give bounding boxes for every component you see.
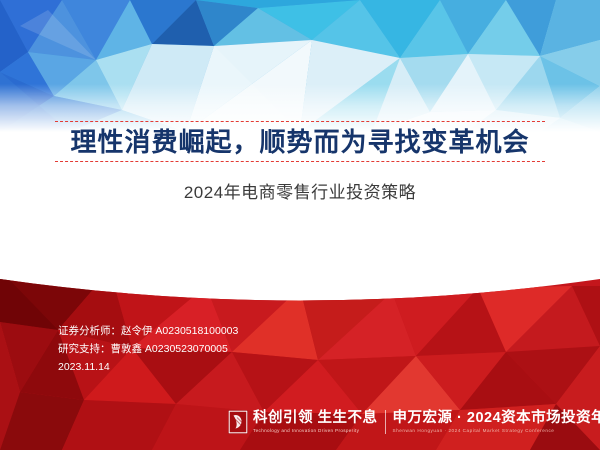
credit-analyst: 证券分析师：赵令伊 A0230518100003 [58,322,438,340]
conference-logo-lockup: 科创引领 生生不息 Technology and Innovation Driv… [228,404,590,440]
brand-block: 申万宏源 · 2024资本市场投资年会 Shenwan Hongyuan · 2… [393,410,600,434]
page-subtitle: 2024年电商零售行业投资策略 [0,182,600,204]
flag-emblem-icon [228,410,248,434]
dashed-rule-bottom [55,161,545,162]
slogan-block: 科创引领 生生不息 Technology and Innovation Driv… [253,410,378,434]
dashed-rule-top [55,121,545,122]
title-zone: 理性消费崛起，顺势而为寻找变革机会 2024年电商零售行业投资策略 [0,110,600,285]
lockup-divider [385,410,386,434]
brand-cn: 申万宏源 · 2024资本市场投资年会 [393,410,600,426]
slogan-en: Technology and Innovation Driven Prosper… [253,427,378,434]
page-title: 理性消费崛起，顺势而为寻找变革机会 [0,127,600,157]
slogan-cn: 科创引领 生生不息 [253,410,378,426]
brand-en: Shenwan Hongyuan · 2024 Capital Market S… [393,427,600,434]
credits-block: 证券分析师：赵令伊 A0230518100003 研究支持：曹敦鑫 A02305… [58,322,438,376]
title-slide: 理性消费崛起，顺势而为寻找变革机会 2024年电商零售行业投资策略 [0,0,600,450]
credit-support: 研究支持：曹敦鑫 A0230523070005 [58,340,438,358]
credit-date: 2023.11.14 [58,358,438,376]
